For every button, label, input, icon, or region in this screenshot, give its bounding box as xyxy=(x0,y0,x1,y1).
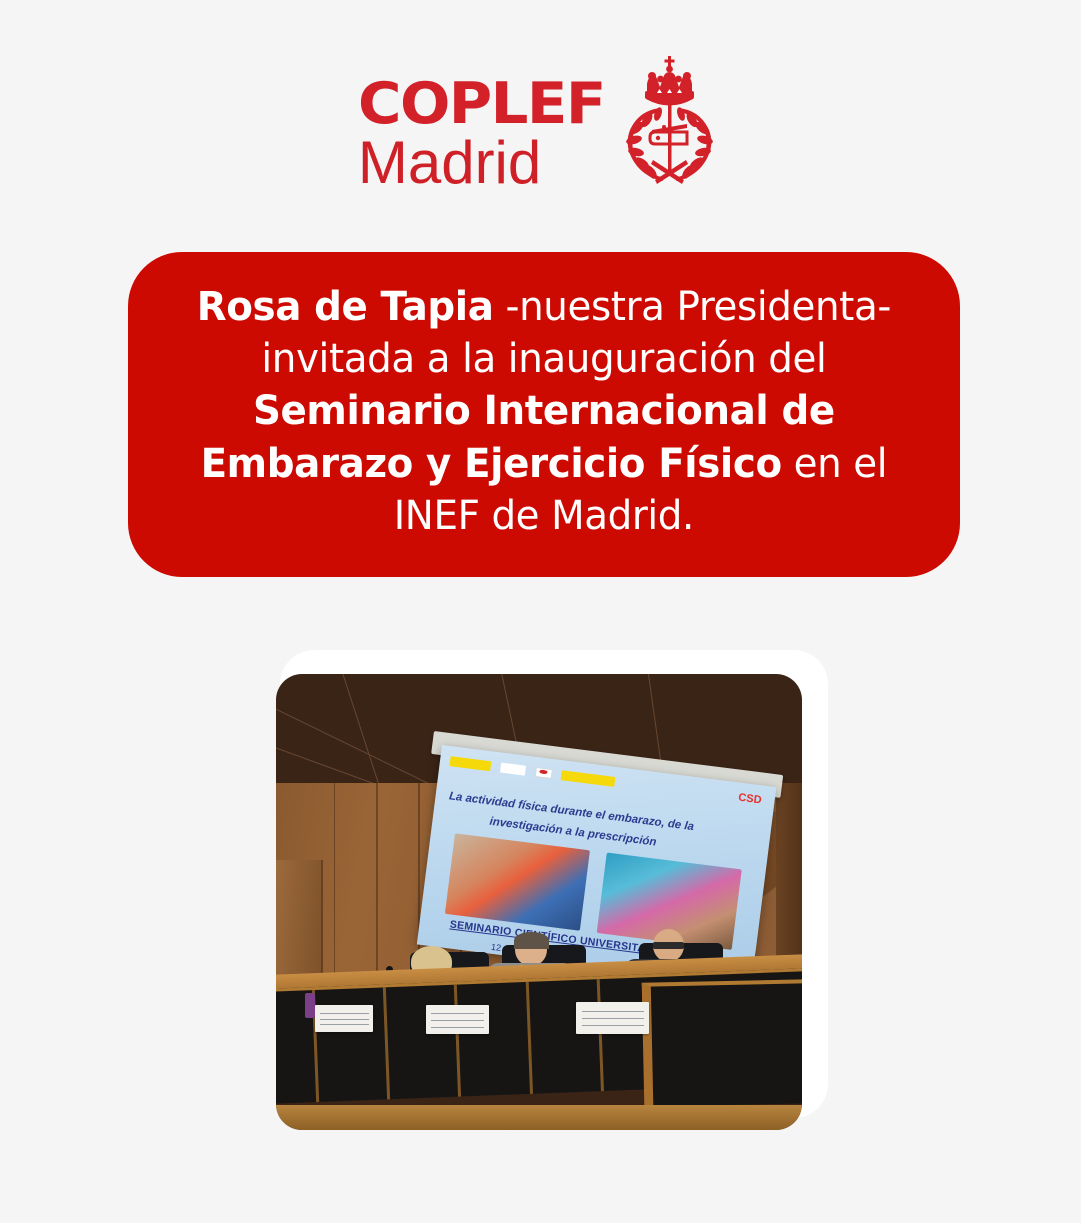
headline-line1-rest: -nuestra Presidenta- xyxy=(494,284,892,330)
headline-line4: Embarazo y Ejercicio Físico xyxy=(201,441,782,487)
headline-banner: Rosa de Tapia -nuestra Presidenta- invit… xyxy=(128,252,960,577)
panelist-right-glasses xyxy=(653,942,684,949)
headline-name: Rosa de Tapia xyxy=(197,284,494,330)
ministry-logo-2 xyxy=(561,770,616,786)
dais-right-panel xyxy=(642,979,802,1107)
white-logo xyxy=(499,762,525,775)
logo-coplef-text: COPLEF xyxy=(358,78,605,130)
event-photo-container: INEF CSD La activid xyxy=(258,650,828,1130)
ministry-logo-1 xyxy=(449,756,491,770)
headline-text: Rosa de Tapia -nuestra Presidenta- invit… xyxy=(197,281,891,543)
crown-laurel-emblem-icon xyxy=(617,52,723,188)
headline-line3: Seminario Internacional de xyxy=(253,388,835,434)
event-photo: INEF CSD La activid xyxy=(276,674,802,1130)
headline-line4-rest: en el xyxy=(782,441,887,487)
slide-image-pregnant-ball xyxy=(444,833,589,930)
csd-logo: CSD xyxy=(735,791,765,806)
logo-madrid-text: Madrid xyxy=(358,132,541,193)
poster-canvas: COPLEF Madrid xyxy=(0,0,1081,1223)
name-placard-2 xyxy=(426,1005,489,1035)
headline-line2: invitada a la inauguración del xyxy=(262,336,827,382)
name-placard-1 xyxy=(315,1005,373,1032)
dais-table xyxy=(276,975,802,1130)
panelist-center-hair xyxy=(514,932,549,949)
coplef-madrid-logo: COPLEF Madrid xyxy=(0,52,1081,194)
headline-line5: INEF de Madrid. xyxy=(394,493,694,539)
red-shield-logo xyxy=(534,766,553,778)
water-bottle xyxy=(305,993,316,1018)
floor xyxy=(276,1105,802,1130)
logo-wordmark: COPLEF Madrid xyxy=(358,52,595,194)
name-placard-3 xyxy=(576,1002,650,1034)
